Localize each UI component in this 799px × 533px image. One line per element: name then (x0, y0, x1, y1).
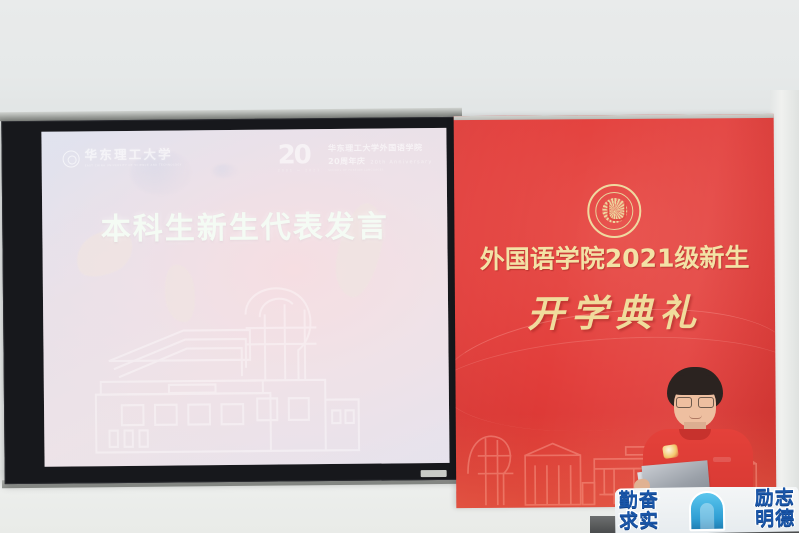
university-seal-icon (63, 150, 80, 167)
motto-left-line1: 勤奋 (619, 491, 659, 512)
anniversary-line1: 华东理工大学外国语学院 (328, 144, 432, 154)
speaker-mouth (689, 415, 702, 419)
projector-screen: 华东理工大学 EAST CHINA UNIVERSITY OF SCIENCE … (1, 117, 459, 484)
emblem-gear-icon (602, 198, 627, 223)
screen-brand-label (421, 470, 447, 477)
speaker-glasses (676, 397, 714, 406)
commemorative-pin-icon (662, 444, 679, 459)
speaker-shirt-detail (713, 457, 731, 462)
campus-building-illustration (75, 273, 393, 457)
motto-left-line2: 求实 (619, 512, 659, 533)
university-logo: 华东理工大学 EAST CHINA UNIVERSITY OF SCIENCE … (63, 149, 182, 168)
anniversary-line2-cn: 20周年庆 (328, 155, 365, 166)
banner-headline: 外国语学院2021级新生 (455, 245, 775, 272)
slide-surface: 华东理工大学 EAST CHINA UNIVERSITY OF SCIENCE … (41, 128, 449, 467)
lecture-hall-scene: 华东理工大学 EAST CHINA UNIVERSITY OF SCIENCE … (0, 0, 799, 533)
anniversary-line2-en: 20th Anniversary (370, 159, 432, 166)
university-name-cn: 华东理工大学 (85, 149, 182, 162)
ecust-emblem-icon (587, 183, 641, 237)
slide-title: 本科生新生代表发言 (42, 212, 447, 246)
anniversary-logo: 20 2001 — 2021 华东理工大学外国语学院 20周年庆 20th An… (278, 143, 433, 173)
slide-blob-decor-2 (212, 163, 238, 177)
campus-gate-icon (683, 491, 732, 532)
gate-arch-shape (689, 491, 726, 532)
motto-left-column: 勤奋 求实 (619, 491, 660, 533)
anniversary-mark: 20 (278, 144, 322, 167)
motto-right-line1: 励志 (755, 488, 795, 509)
motto-right-line2: 明德 (755, 509, 795, 530)
podium-motto-sign: 勤奋 求实 励志 明德 (615, 487, 799, 533)
speaker-hair-fringe (669, 375, 721, 395)
anniversary-tagline-en: SCHOOL OF FOREIGN LANGUAGES (328, 168, 432, 172)
motto-right-column: 励志 明德 (755, 488, 796, 530)
